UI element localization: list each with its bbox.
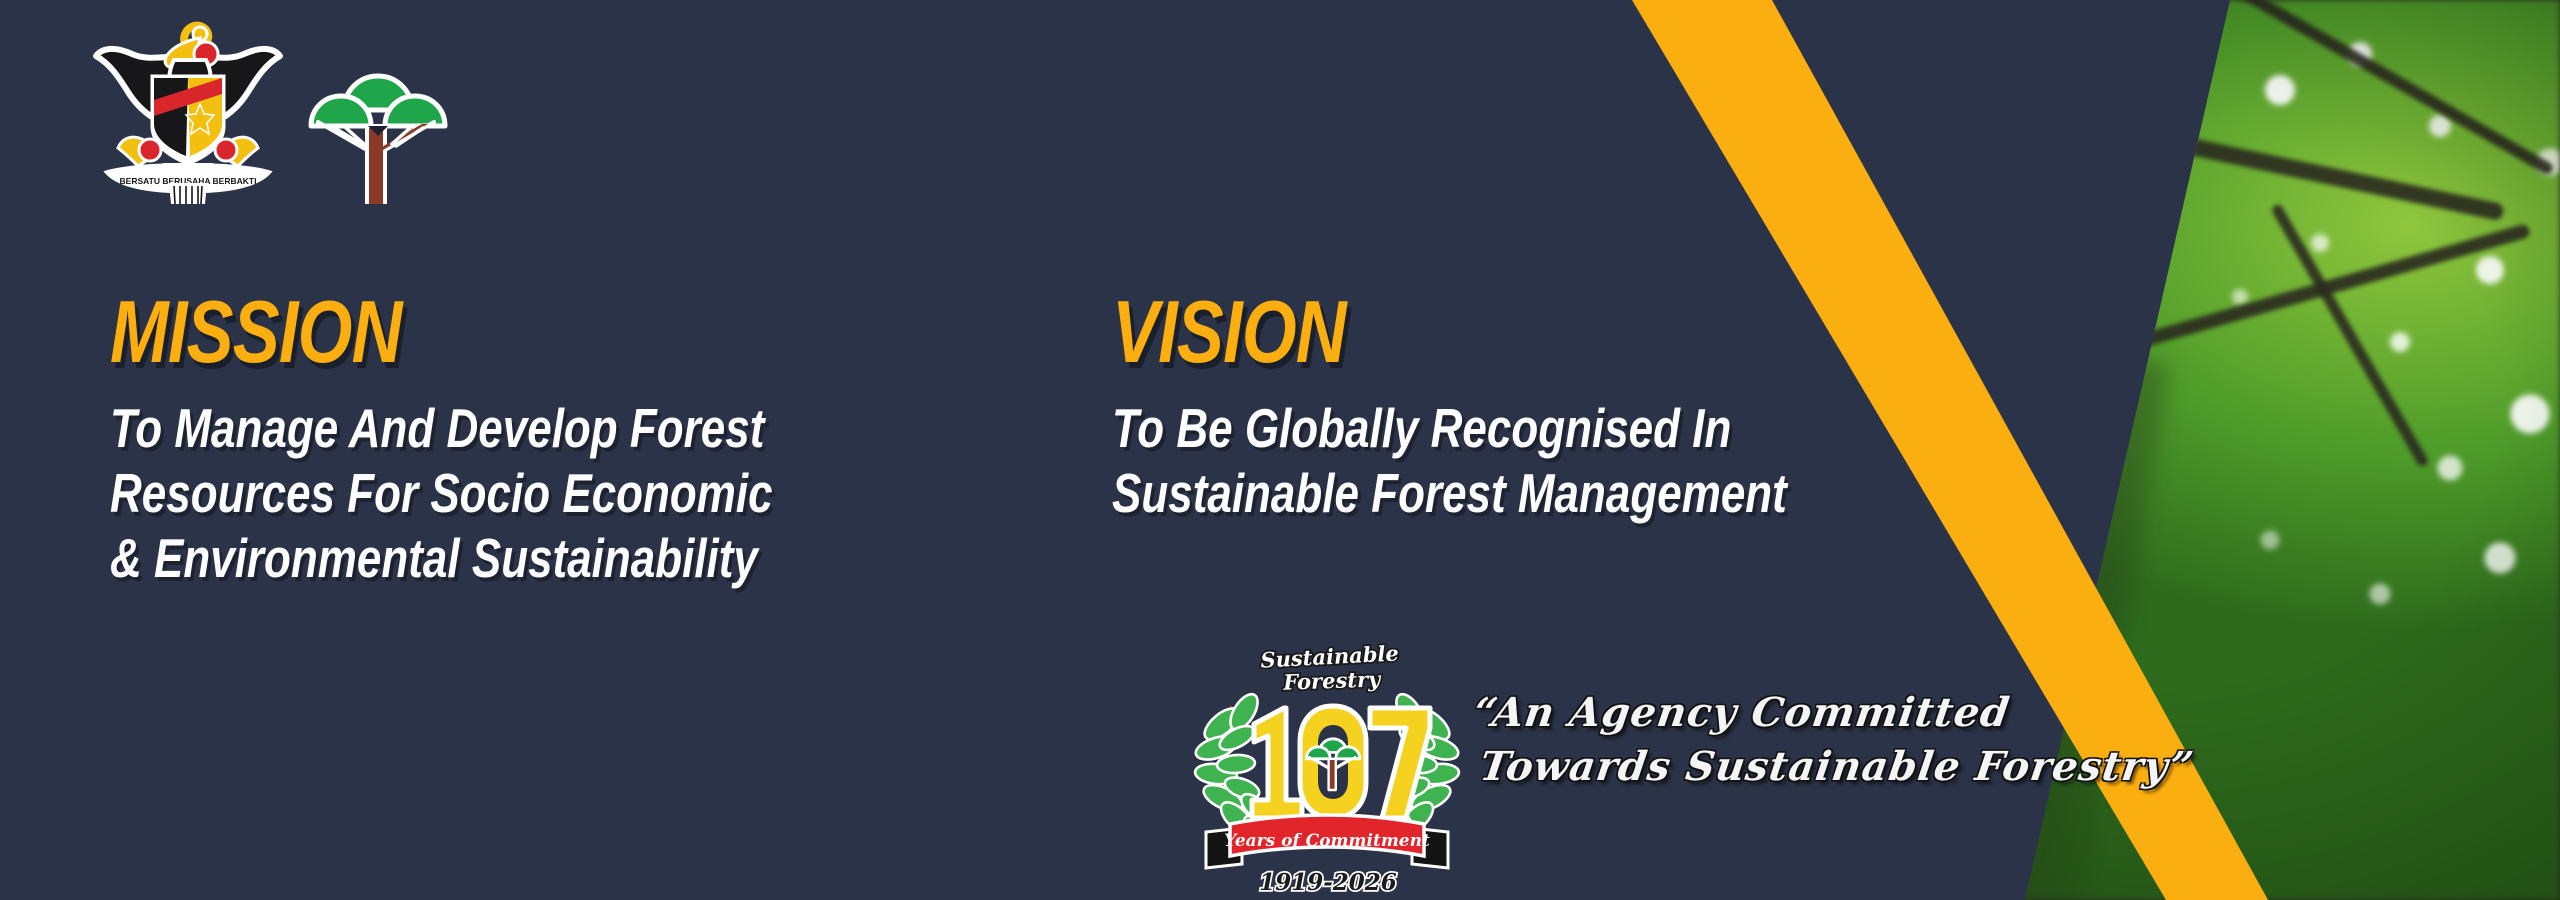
mission-vision-banner: BERSATU BERUSAHA BERBAKTI bbox=[0, 0, 2560, 900]
vision-line-2: Sustainable Forest Management bbox=[1112, 461, 2072, 526]
vision-block: VISION To Be Globally Recognised In Sust… bbox=[1112, 290, 2072, 526]
forest-department-tree-icon bbox=[308, 54, 448, 204]
logo-group: BERSATU BERUSAHA BERBAKTI bbox=[88, 14, 448, 204]
tagline-line-1: “An Agency Committed bbox=[1470, 686, 2098, 740]
mission-statement: To Manage And Develop Forest Resources F… bbox=[110, 396, 1010, 591]
mission-line-3: & Environmental Sustainability bbox=[110, 526, 1010, 591]
emblem-ribbon: Years of Commitment bbox=[1206, 815, 1448, 868]
tagline-line-2: Towards Sustainable Forestry” bbox=[1470, 740, 2098, 794]
tree-branch bbox=[1863, 0, 2058, 159]
mission-line-1: To Manage And Develop Forest bbox=[110, 396, 1010, 461]
svg-text:Forestry: Forestry bbox=[1282, 666, 1383, 694]
emblem-top-script: Sustainable Forestry bbox=[1260, 640, 1400, 694]
mission-heading: MISSION bbox=[110, 290, 830, 374]
mission-line-2: Resources For Socio Economic bbox=[110, 461, 1010, 526]
anniversary-107-emblem: Sustainable Forestry bbox=[1192, 628, 1462, 896]
svg-text:Years of Commitment: Years of Commitment bbox=[1224, 831, 1430, 851]
sarawak-coat-of-arms-icon: BERSATU BERUSAHA BERBAKTI bbox=[88, 14, 288, 204]
mission-block: MISSION To Manage And Develop Forest Res… bbox=[110, 290, 1010, 591]
vision-statement: To Be Globally Recognised In Sustainable… bbox=[1112, 396, 2072, 526]
tagline-block: “An Agency Committed Towards Sustainable… bbox=[1478, 686, 2098, 794]
emblem-number bbox=[1252, 706, 1430, 818]
vision-heading: VISION bbox=[1112, 290, 1880, 374]
emblem-years: 1919-2026 bbox=[1259, 869, 1397, 896]
vision-line-1: To Be Globally Recognised In bbox=[1112, 396, 2072, 461]
